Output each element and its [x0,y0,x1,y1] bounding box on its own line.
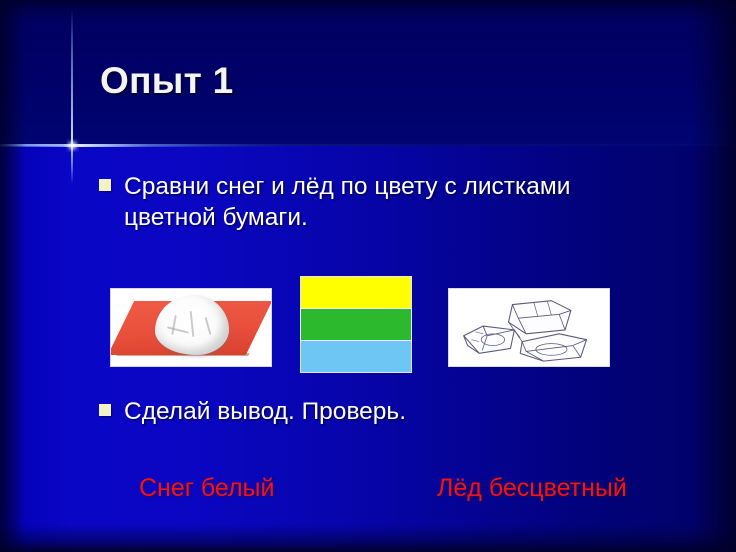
picture-colored-paper-strips [300,276,412,373]
sparkle-horizontal-ray-icon [0,144,286,147]
bullet-item-2-text: Сделай вывод. Проверь. [124,396,406,427]
picture-ice-cubes [448,288,610,367]
sparkle-vertical-ray-icon [71,8,73,184]
slide-title: Опыт 1 [100,60,234,102]
caption-ice-conclusion: Лёд бесцветный [437,474,627,503]
square-bullet-icon [99,179,111,191]
paper-strip-blue [301,340,411,372]
bullet-item-1-text: Сравни снег и лёд по цвету с листками цв… [124,171,644,233]
square-bullet-icon [99,404,111,416]
caption-snow-conclusion: Снег белый [139,474,274,503]
ice-cubes-drawing-icon [449,289,609,366]
sparkle-core-icon [66,139,79,152]
paper-strip-yellow [301,277,411,308]
paper-strip-green [301,308,411,340]
presentation-slide: Опыт 1 Сравни снег и лёд по цвету с лист… [0,0,736,552]
bullet-item-2: Сделай вывод. Проверь. [99,396,406,427]
picture-snow-on-red-paper [110,288,272,367]
bullet-item-1: Сравни снег и лёд по цвету с листками цв… [99,171,644,233]
